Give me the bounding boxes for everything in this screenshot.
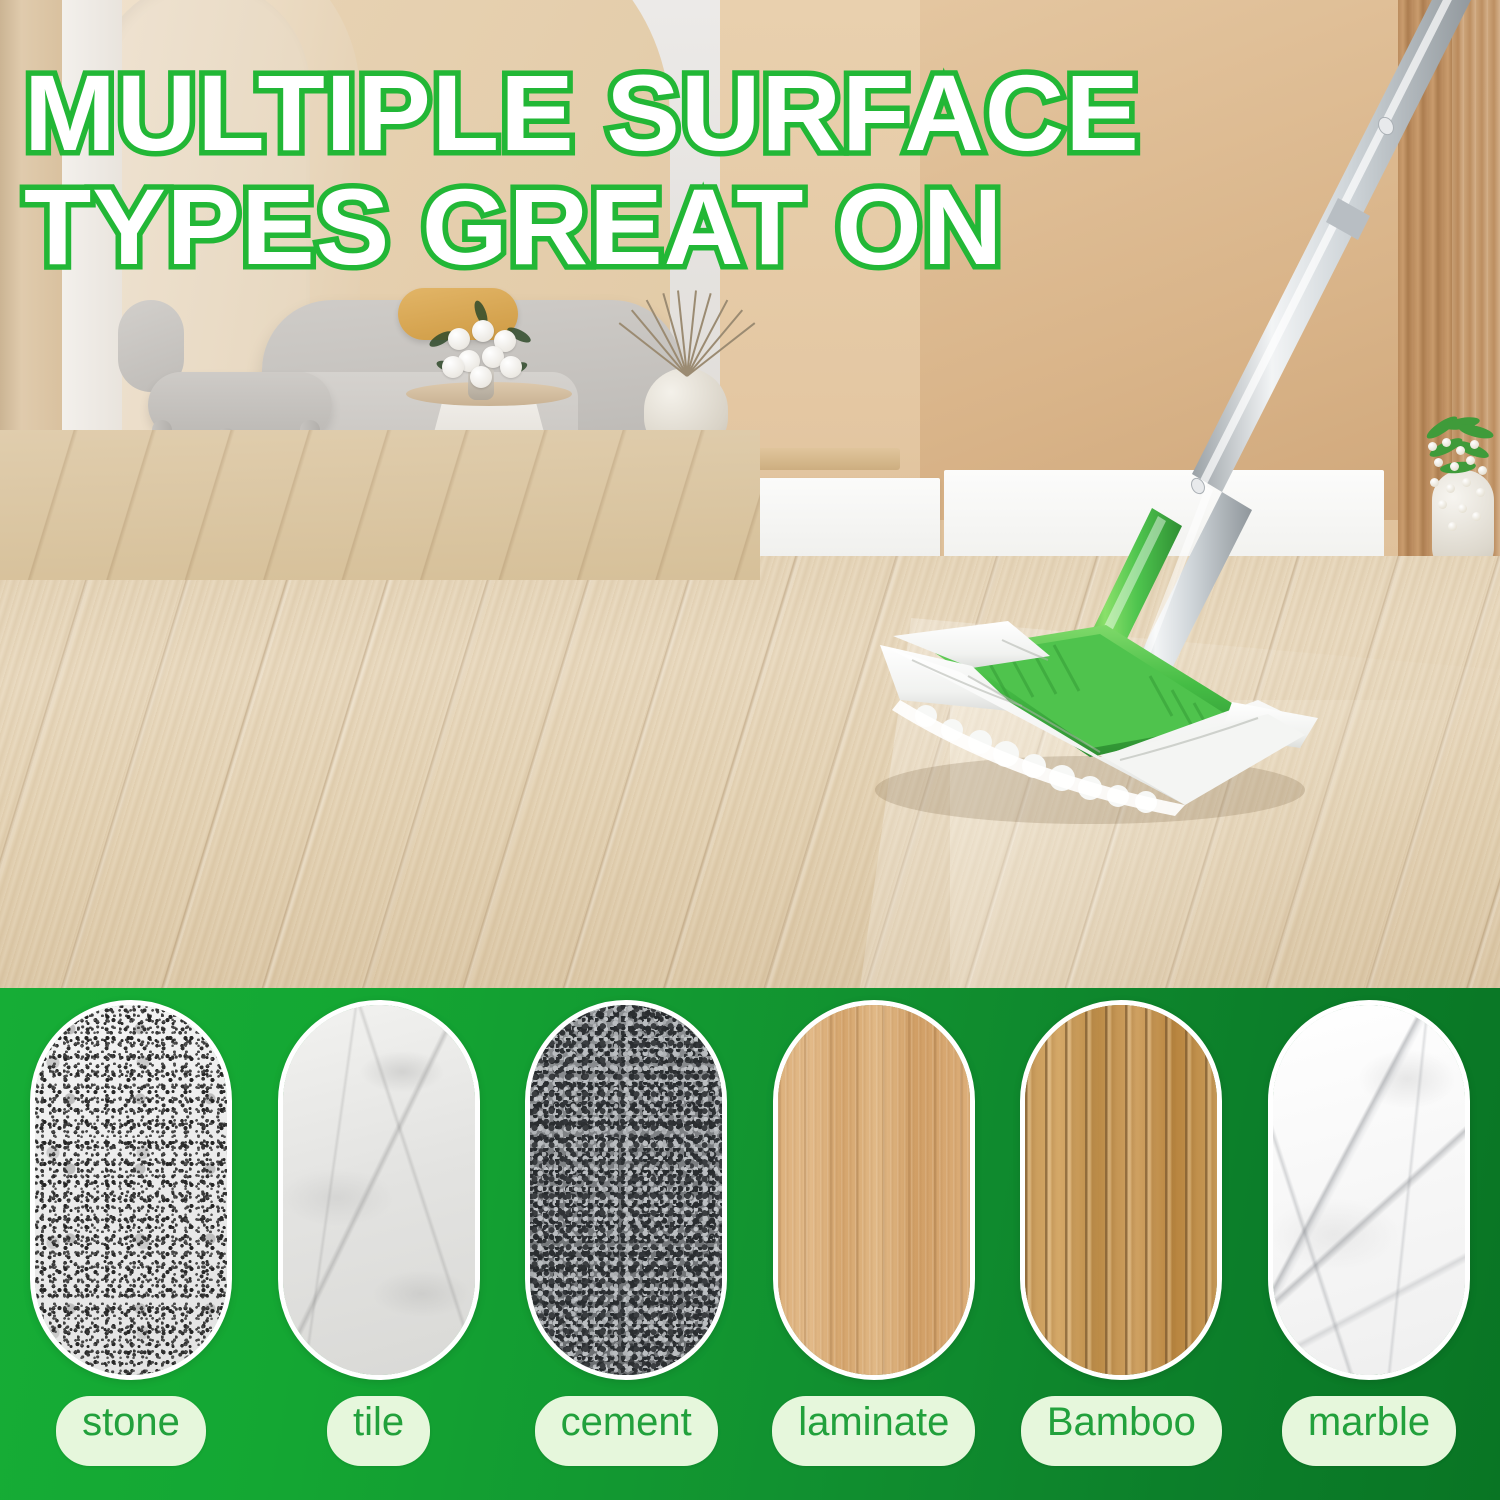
headline-line-2: TYPES GREAT ON bbox=[24, 170, 1350, 284]
label-cell-bamboo: Bamboo bbox=[1020, 1396, 1222, 1466]
cement-texture bbox=[530, 1005, 722, 1375]
surface-swatch-stone[interactable] bbox=[30, 1000, 232, 1380]
surface-label-laminate: laminate bbox=[772, 1396, 975, 1466]
label-cell-stone: stone bbox=[30, 1396, 232, 1466]
surface-swatch-tile[interactable] bbox=[278, 1000, 480, 1380]
label-cell-tile: tile bbox=[278, 1396, 480, 1466]
surface-swatch-laminate[interactable] bbox=[773, 1000, 975, 1380]
wood-plank-floor bbox=[0, 556, 1500, 988]
bamboo-texture bbox=[1025, 1005, 1217, 1375]
label-cell-laminate: laminate bbox=[773, 1396, 975, 1466]
white-rose-bouquet bbox=[424, 300, 542, 392]
headline-line-1: MULTIPLE SURFACE bbox=[24, 56, 1350, 170]
surface-label-bamboo: Bamboo bbox=[1021, 1396, 1222, 1466]
marble-texture bbox=[1273, 1005, 1465, 1375]
living-room-scene: MULTIPLE SURFACE TYPES GREAT ON bbox=[0, 0, 1500, 988]
stone-texture bbox=[35, 1005, 227, 1375]
surface-swatch-cement[interactable] bbox=[525, 1000, 727, 1380]
tile-texture bbox=[283, 1005, 475, 1375]
laminate-texture bbox=[778, 1005, 970, 1375]
surface-swatch-marble[interactable] bbox=[1268, 1000, 1470, 1380]
white-flower-sprays bbox=[1418, 436, 1500, 546]
label-cell-cement: cement bbox=[525, 1396, 727, 1466]
surface-label-row: stone tile cement laminate Bamboo marble bbox=[0, 1396, 1500, 1466]
product-marketing-poster: MULTIPLE SURFACE TYPES GREAT ON bbox=[0, 0, 1500, 1500]
surface-types-panel: stone tile cement laminate Bamboo marble bbox=[0, 988, 1500, 1500]
surface-label-cement: cement bbox=[535, 1396, 718, 1466]
surface-label-stone: stone bbox=[56, 1396, 206, 1466]
wood-plank-floor-foreground bbox=[0, 430, 760, 580]
surface-swatch-bamboo[interactable] bbox=[1020, 1000, 1222, 1380]
headline: MULTIPLE SURFACE TYPES GREAT ON bbox=[24, 56, 1324, 285]
dried-pampas-grass bbox=[628, 276, 748, 376]
label-cell-marble: marble bbox=[1268, 1396, 1470, 1466]
surface-label-marble: marble bbox=[1282, 1396, 1456, 1466]
surface-label-tile: tile bbox=[327, 1396, 430, 1466]
surface-swatch-row bbox=[0, 1000, 1500, 1390]
